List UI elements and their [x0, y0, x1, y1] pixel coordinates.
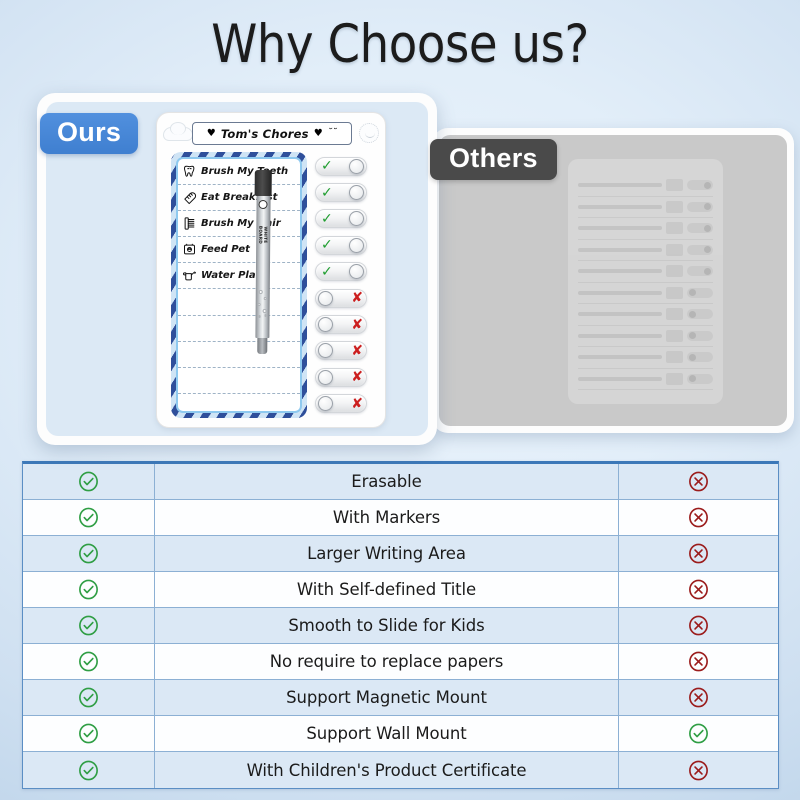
feature-label: Smooth to Slide for Kids: [155, 608, 618, 643]
cross-circle-icon: [687, 614, 710, 637]
others-ghost-slider: [687, 245, 713, 255]
others-ghost-icon: [666, 351, 683, 363]
sun-face-icon: [359, 123, 379, 143]
slider-knob[interactable]: [349, 238, 364, 253]
chore-label: Feed Pet: [201, 244, 250, 255]
others-ghost-label: [578, 205, 662, 209]
chore-list: Brush My TeethEat BreakfastBrush My Hair…: [176, 157, 302, 413]
others-ghost-icon: [666, 201, 683, 213]
cloud-icon: [163, 127, 193, 141]
board-title-text: Tom's Chores: [221, 127, 309, 141]
heart-icon-left: ♥: [207, 129, 216, 139]
others-ghost-label: [578, 291, 662, 295]
cross-icon: ✘: [351, 291, 363, 305]
smiley-icon: ˘˘: [328, 129, 337, 138]
comparison-table: ErasableWith MarkersLarger Writing AreaW…: [22, 461, 779, 789]
chore-slider-on[interactable]: ✓: [315, 153, 379, 179]
others-ghost-slider: [687, 266, 713, 276]
others-ghost-icon: [666, 373, 683, 385]
check-circle-icon: [687, 722, 710, 745]
others-ghost-slider: [687, 331, 713, 341]
check-circle-icon: [77, 686, 100, 709]
pet-bowl-icon: [182, 242, 197, 257]
check-circle-icon: [77, 759, 100, 782]
others-ghost-label: [578, 334, 662, 338]
ours-cell: [23, 464, 155, 499]
check-circle-icon: [77, 506, 100, 529]
feature-label: With Children's Product Certificate: [155, 752, 618, 788]
slider-knob[interactable]: [318, 291, 333, 306]
slider-track: ✓: [315, 157, 367, 176]
chore-slider-on[interactable]: ✓: [315, 232, 379, 258]
ours-cell: [23, 572, 155, 607]
ours-cell: [23, 500, 155, 535]
others-ghost-label: [578, 377, 662, 381]
chore-row-blank[interactable]: [178, 368, 300, 394]
others-cell: [618, 752, 778, 788]
bread-icon: [182, 190, 197, 205]
slider-column: ✓✓✓✓✓✘✘✘✘✘: [315, 153, 379, 417]
pen-body: WHITE BOARD: [255, 196, 270, 338]
others-ghost-row: [578, 175, 713, 197]
chore-row[interactable]: Brush My Teeth: [178, 159, 300, 185]
feature-label: No require to replace papers: [155, 644, 618, 679]
others-ghost-slider: [687, 202, 713, 212]
board-title-strip[interactable]: ♥ Tom's Chores ♥ ˘˘: [192, 122, 352, 145]
others-cell: [618, 716, 778, 751]
others-cell: [618, 500, 778, 535]
others-ghost-icon: [666, 179, 683, 191]
whiteboard-marker-pen[interactable]: WHITE BOARD: [253, 170, 272, 360]
others-cell: [618, 536, 778, 571]
pen-tip: [257, 338, 267, 354]
table-row: With Self-defined Title: [23, 572, 778, 608]
others-ghost-slider: [687, 352, 713, 362]
slider-knob[interactable]: [318, 317, 333, 332]
watering-can-icon: [182, 268, 197, 283]
slider-knob[interactable]: [318, 396, 333, 411]
others-cell: [618, 464, 778, 499]
chore-slider-off[interactable]: ✘: [315, 391, 379, 417]
others-ghost-slider: [687, 180, 713, 190]
chore-row-blank[interactable]: [178, 289, 300, 315]
others-cell: [618, 680, 778, 715]
others-ghost-label: [578, 269, 662, 273]
check-icon: ✓: [321, 238, 333, 252]
others-ghost-row: [578, 304, 713, 326]
others-ghost-slider: [687, 309, 713, 319]
feature-label: Larger Writing Area: [155, 536, 618, 571]
cross-icon: ✘: [351, 318, 363, 332]
chore-slider-off[interactable]: ✘: [315, 338, 379, 364]
pen-grip-dots: [255, 288, 269, 322]
others-ghost-icon: [666, 265, 683, 277]
feature-label: With Self-defined Title: [155, 572, 618, 607]
slider-knob[interactable]: [349, 264, 364, 279]
table-row: With Children's Product Certificate: [23, 752, 778, 788]
cross-circle-icon: [687, 470, 710, 493]
check-circle-icon: [77, 650, 100, 673]
chore-row-blank[interactable]: [178, 394, 300, 413]
check-circle-icon: [77, 578, 100, 601]
ours-cell: [23, 716, 155, 751]
others-ghost-label: [578, 183, 662, 187]
pen-logo-icon: [258, 200, 267, 209]
others-ghost-icon: [666, 287, 683, 299]
cross-circle-icon: [687, 650, 710, 673]
others-ghost-label: [578, 355, 662, 359]
slider-track: ✘: [315, 394, 367, 413]
chore-row-blank[interactable]: [178, 316, 300, 342]
ours-badge: Ours: [40, 113, 138, 154]
table-row: No require to replace papers: [23, 644, 778, 680]
chore-slider-off[interactable]: ✘: [315, 311, 379, 337]
table-row: Erasable: [23, 464, 778, 500]
check-icon: ✓: [321, 159, 333, 173]
pen-cap: [255, 170, 272, 196]
others-ghost-row: [578, 283, 713, 305]
chore-slider-on[interactable]: ✓: [315, 206, 379, 232]
chore-board: ♥ Tom's Chores ♥ ˘˘ Brush My TeethEat Br…: [156, 112, 386, 428]
slider-track: ✘: [315, 341, 367, 360]
slider-knob[interactable]: [318, 370, 333, 385]
others-ghost-slider: [687, 288, 713, 298]
others-badge: Others: [430, 139, 557, 180]
ours-cell: [23, 680, 155, 715]
others-cell: [618, 644, 778, 679]
feature-label: Support Wall Mount: [155, 716, 618, 751]
chore-list-panel: Brush My TeethEat BreakfastBrush My Hair…: [171, 152, 307, 418]
ours-cell: [23, 644, 155, 679]
chore-row[interactable]: Eat Breakfast: [178, 185, 300, 211]
cross-circle-icon: [687, 578, 710, 601]
ours-cell: [23, 608, 155, 643]
others-ghost-row: [578, 197, 713, 219]
feature-label: With Markers: [155, 500, 618, 535]
cross-circle-icon: [687, 542, 710, 565]
others-ghost-row: [578, 261, 713, 283]
ours-cell: [23, 536, 155, 571]
others-ghost-icon: [666, 308, 683, 320]
others-ghost-row: [578, 240, 713, 262]
ours-cell: [23, 752, 155, 788]
check-circle-icon: [77, 470, 100, 493]
tooth-icon: [182, 164, 197, 179]
chore-slider-on[interactable]: ✓: [315, 179, 379, 205]
others-ghost-label: [578, 312, 662, 316]
others-ghost-icon: [666, 330, 683, 342]
slider-knob[interactable]: [318, 343, 333, 358]
others-chore-sheet-ghost: [568, 159, 723, 404]
check-icon: ✓: [321, 212, 333, 226]
others-ghost-label: [578, 226, 662, 230]
others-ghost-row: [578, 369, 713, 391]
chore-label: Brush My Teeth: [201, 166, 288, 177]
table-row: Support Magnetic Mount: [23, 680, 778, 716]
page-title: Why Choose us?: [48, 14, 752, 75]
others-ghost-row: [578, 218, 713, 240]
cross-icon: ✘: [351, 344, 363, 358]
others-cell: [618, 572, 778, 607]
others-ghost-slider: [687, 223, 713, 233]
feature-label: Support Magnetic Mount: [155, 680, 618, 715]
others-ghost-row: [578, 326, 713, 348]
cross-circle-icon: [687, 759, 710, 782]
slider-track: ✓: [315, 183, 367, 202]
heart-icon-right: ♥: [314, 129, 323, 139]
slider-track: ✘: [315, 289, 367, 308]
slider-track: ✓: [315, 209, 367, 228]
chore-row[interactable]: Feed Pet: [178, 237, 300, 263]
cross-icon: ✘: [351, 370, 363, 384]
chore-row[interactable]: Water Plant: [178, 263, 300, 289]
cross-circle-icon: [687, 686, 710, 709]
check-circle-icon: [77, 722, 100, 745]
feature-label: Erasable: [155, 464, 618, 499]
promo-comparison-page: Why Choose us? Others ♥ Tom's Chores ♥ ˘…: [0, 0, 800, 800]
table-row: Smooth to Slide for Kids: [23, 608, 778, 644]
slider-track: ✓: [315, 262, 367, 281]
chore-slider-off[interactable]: ✘: [315, 364, 379, 390]
slider-knob[interactable]: [349, 211, 364, 226]
check-icon: ✓: [321, 186, 333, 200]
chore-slider-on[interactable]: ✓: [315, 259, 379, 285]
cross-icon: ✘: [351, 397, 363, 411]
chore-row-blank[interactable]: [178, 342, 300, 368]
others-ghost-icon: [666, 222, 683, 234]
check-icon: ✓: [321, 265, 333, 279]
cross-circle-icon: [687, 506, 710, 529]
slider-track: ✘: [315, 315, 367, 334]
table-row: Support Wall Mount: [23, 716, 778, 752]
others-ghost-icon: [666, 244, 683, 256]
others-ghost-row: [578, 347, 713, 369]
others-cell: [618, 608, 778, 643]
slider-track: ✘: [315, 368, 367, 387]
table-row: With Markers: [23, 500, 778, 536]
table-row: Larger Writing Area: [23, 536, 778, 572]
others-ghost-label: [578, 248, 662, 252]
others-ghost-slider: [687, 374, 713, 384]
check-circle-icon: [77, 542, 100, 565]
slider-track: ✓: [315, 236, 367, 255]
slider-knob[interactable]: [349, 159, 364, 174]
slider-knob[interactable]: [349, 185, 364, 200]
chore-slider-off[interactable]: ✘: [315, 285, 379, 311]
comb-icon: [182, 216, 197, 231]
check-circle-icon: [77, 614, 100, 637]
pen-label-text: WHITE BOARD: [258, 217, 268, 253]
chore-row[interactable]: Brush My Hair: [178, 211, 300, 237]
